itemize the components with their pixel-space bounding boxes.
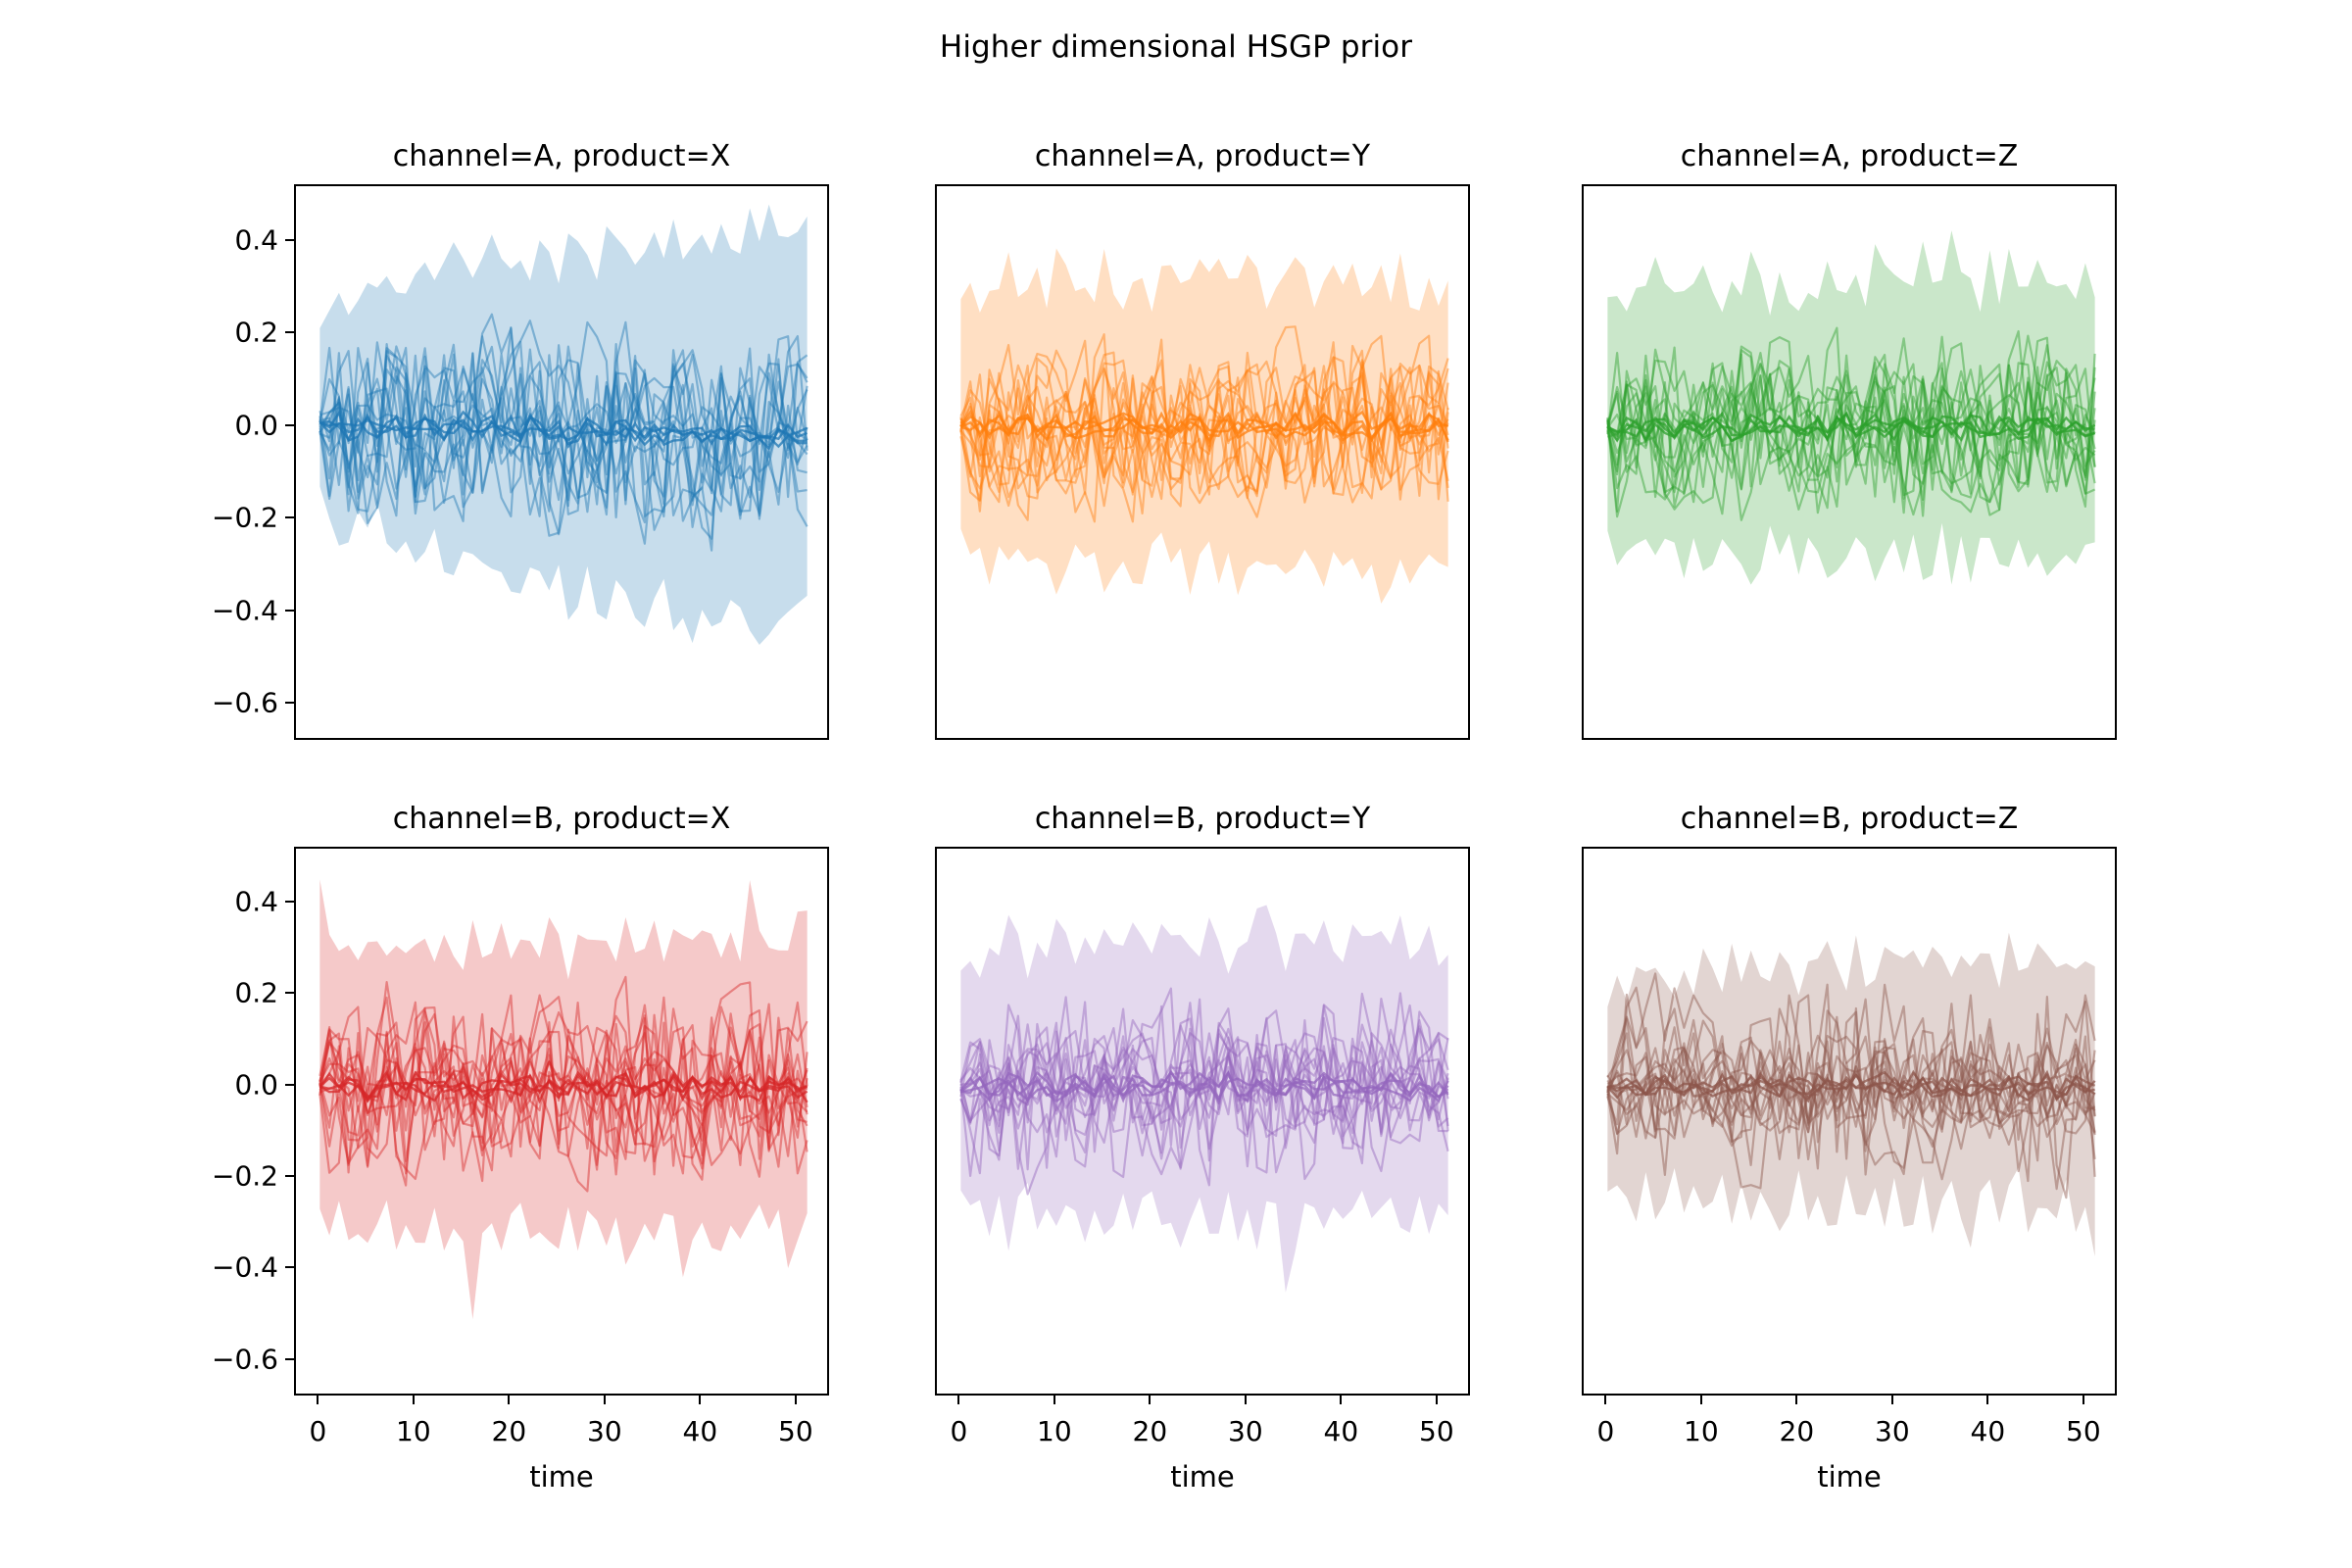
figure-suptitle: Higher dimensional HSGP prior [0,29,2352,65]
x-tick-mark [604,1396,606,1404]
x-axis-label: time [294,1460,829,1494]
y-tick-mark [285,1358,294,1360]
y-tick-mark [285,1266,294,1268]
axes-frame [1582,184,2117,740]
plot-area [296,186,829,740]
axes-frame [294,184,829,740]
plot-area [1584,849,2117,1396]
plot-area [937,186,1470,740]
x-tick-label: 50 [778,1415,813,1447]
x-tick-label: 50 [2066,1415,2101,1447]
axes-frame [1582,847,2117,1396]
y-tick-mark [285,1084,294,1086]
y-tick-label: −0.6 [212,1343,278,1375]
x-tick-label: 0 [309,1415,326,1447]
subplot-title: channel=A, product=X [294,139,829,173]
y-tick-label: −0.4 [212,1251,278,1284]
subplot-a-z: channel=A, product=Z [1582,184,2117,740]
x-tick-label: 20 [492,1415,527,1447]
y-tick-mark [285,516,294,518]
x-tick-mark [795,1396,797,1404]
y-tick-label: −0.6 [212,687,278,719]
subplot-b-z: channel=B, product=Z01020304050time [1582,847,2117,1396]
x-tick-mark [1149,1396,1151,1404]
x-tick-mark [508,1396,510,1404]
y-tick-mark [285,331,294,333]
subplot-title: channel=B, product=Y [935,802,1470,836]
subplot-title: channel=B, product=Z [1582,802,2117,836]
x-tick-label: 30 [1875,1415,1910,1447]
x-tick-label: 50 [1419,1415,1454,1447]
y-tick-mark [285,610,294,612]
x-tick-mark [1795,1396,1797,1404]
plot-area [1584,186,2117,740]
axes-frame [294,847,829,1396]
x-tick-mark [1053,1396,1055,1404]
y-tick-label: −0.4 [212,594,278,626]
x-tick-label: 0 [950,1415,967,1447]
x-tick-mark [957,1396,959,1404]
x-tick-mark [1700,1396,1702,1404]
axes-frame [935,847,1470,1396]
y-tick-label: 0.4 [234,223,278,256]
x-tick-label: 40 [1971,1415,2006,1447]
y-tick-label: 0.2 [234,317,278,349]
x-tick-label: 10 [396,1415,431,1447]
plot-area [937,849,1470,1396]
x-axis-label: time [1582,1460,2117,1494]
subplot-a-y: channel=A, product=Y [935,184,1470,740]
x-tick-label: 40 [683,1415,718,1447]
subplot-b-x: channel=B, product=X0.40.20.0−0.2−0.4−0.… [294,847,829,1396]
subplot-title: channel=A, product=Z [1582,139,2117,173]
x-tick-mark [1245,1396,1247,1404]
x-tick-mark [699,1396,701,1404]
y-tick-mark [285,1175,294,1177]
x-tick-label: 40 [1324,1415,1359,1447]
subplot-b-y: channel=B, product=Y01020304050time [935,847,1470,1396]
y-tick-label: −0.2 [212,1160,278,1193]
y-tick-label: 0.2 [234,977,278,1009]
x-tick-label: 30 [587,1415,622,1447]
x-tick-label: 20 [1133,1415,1168,1447]
x-tick-mark [413,1396,415,1404]
y-tick-mark [285,239,294,241]
subplot-title: channel=B, product=X [294,802,829,836]
y-tick-label: 0.4 [234,886,278,918]
y-tick-mark [285,992,294,994]
x-tick-label: 0 [1596,1415,1614,1447]
y-tick-mark [285,424,294,426]
x-tick-mark [1340,1396,1342,1404]
x-tick-mark [1436,1396,1438,1404]
x-tick-label: 20 [1780,1415,1815,1447]
plot-area [296,849,829,1396]
y-tick-label: 0.0 [234,409,278,441]
x-tick-mark [317,1396,318,1404]
y-tick-label: 0.0 [234,1068,278,1101]
x-tick-label: 10 [1684,1415,1719,1447]
y-tick-label: −0.2 [212,502,278,534]
x-tick-label: 10 [1037,1415,1072,1447]
x-tick-mark [1891,1396,1893,1404]
x-tick-mark [1986,1396,1988,1404]
y-tick-mark [285,702,294,704]
x-tick-mark [2082,1396,2084,1404]
x-axis-label: time [935,1460,1470,1494]
x-tick-label: 30 [1228,1415,1263,1447]
subplot-a-x: channel=A, product=X0.40.20.0−0.2−0.4−0.… [294,184,829,740]
subplot-title: channel=A, product=Y [935,139,1470,173]
axes-frame [935,184,1470,740]
x-tick-mark [1604,1396,1606,1404]
figure-canvas: Higher dimensional HSGP prior channel=A,… [0,0,2352,1568]
y-tick-mark [285,901,294,903]
